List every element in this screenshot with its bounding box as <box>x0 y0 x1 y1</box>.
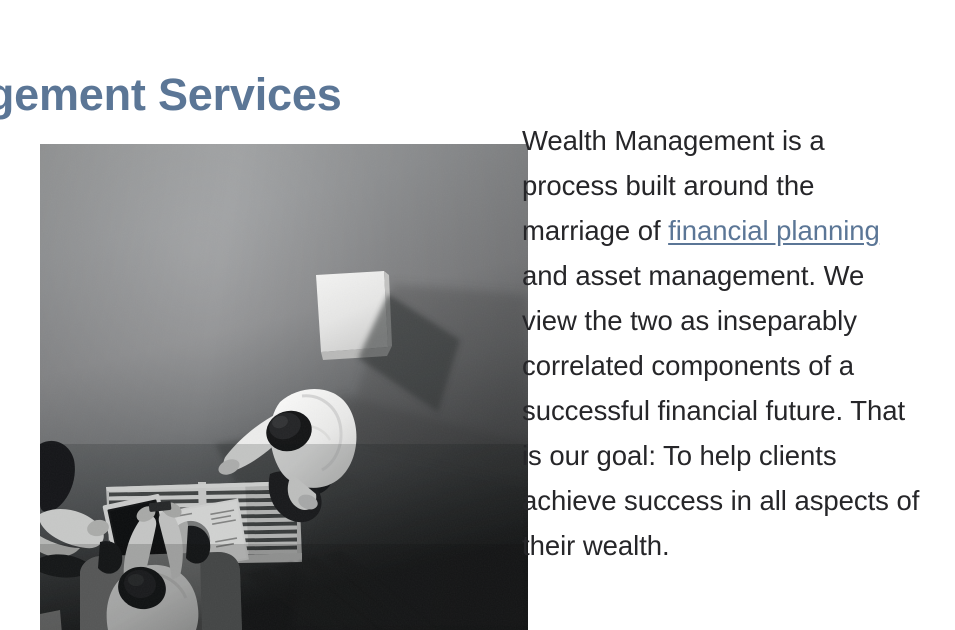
page-title: agement Services <box>0 68 662 122</box>
photo-illustration <box>40 144 528 630</box>
intro-text-column: Wealth Management is a process built aro… <box>522 118 922 568</box>
financial-planning-link[interactable]: financial planning <box>668 215 880 246</box>
aerial-business-meeting-photo <box>40 144 528 630</box>
paragraph-text-after-link: and asset management. We view the two as… <box>522 260 919 561</box>
intro-paragraph: Wealth Management is a process built aro… <box>522 118 922 568</box>
